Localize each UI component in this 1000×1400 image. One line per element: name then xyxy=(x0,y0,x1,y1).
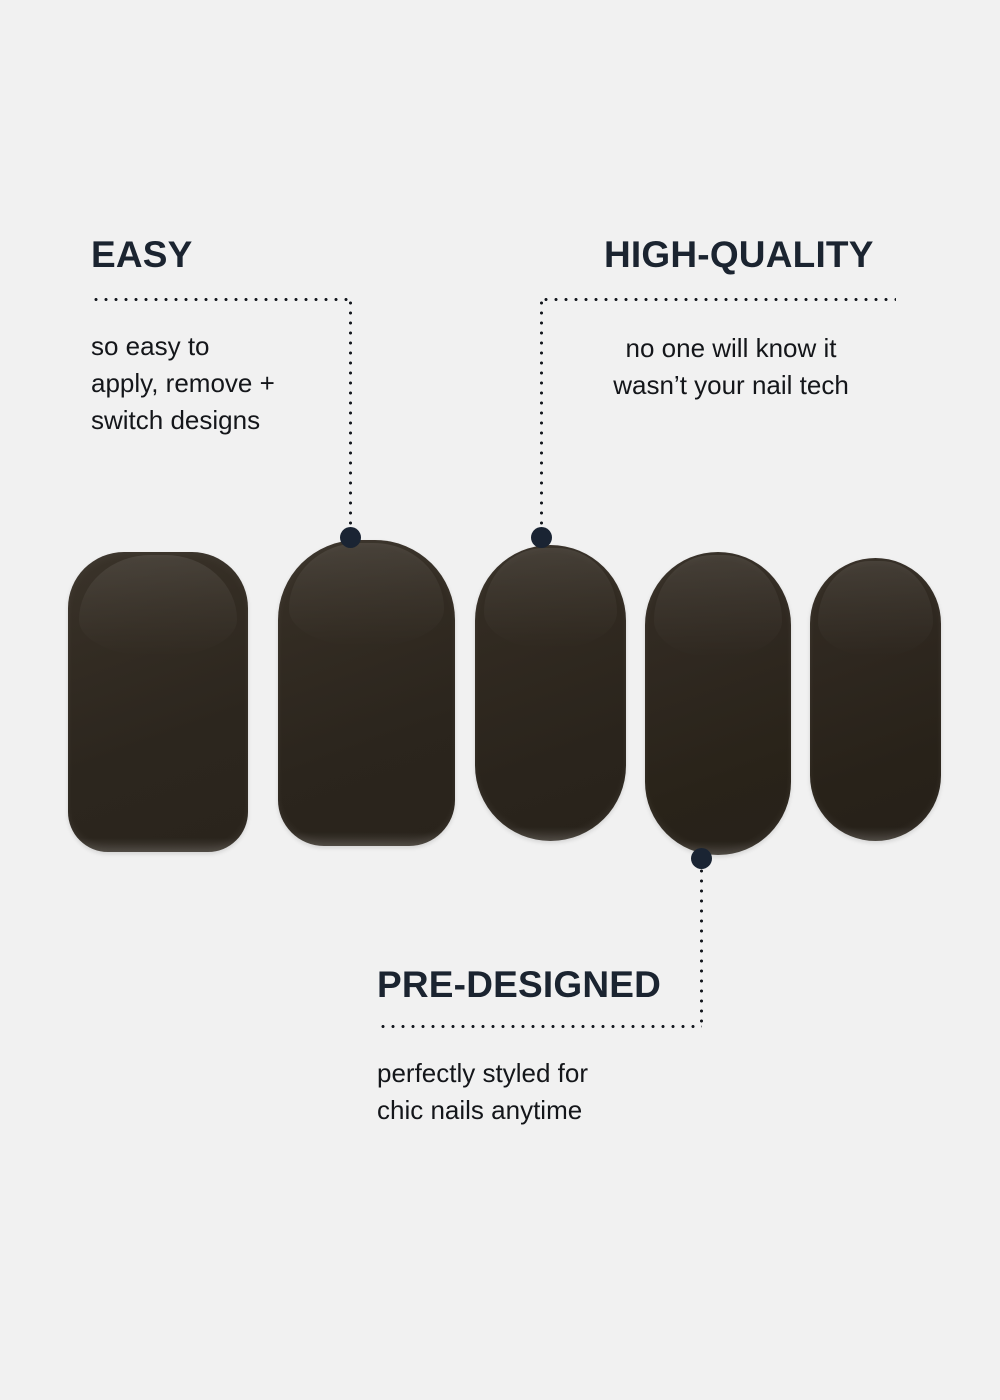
callout-high-quality-endpoint-dot xyxy=(531,527,552,548)
callout-pre-designed-body: perfectly styled for chic nails anytime xyxy=(377,1055,707,1129)
callout-pre-designed-dotted-line-vertical xyxy=(700,866,703,1028)
callout-pre-designed-dotted-line-horizontal xyxy=(378,1025,702,1028)
nail-swatch-5 xyxy=(810,558,941,841)
callout-easy-dotted-line-horizontal xyxy=(91,298,352,301)
callout-easy-endpoint-dot xyxy=(340,527,361,548)
nail-swatch-2 xyxy=(278,540,455,846)
callout-high-quality-body: no one will know it wasn’t your nail tec… xyxy=(566,330,896,404)
nail-tip-rim-1 xyxy=(68,838,248,852)
callout-pre-designed-title: PRE-DESIGNED xyxy=(377,964,661,1006)
callout-high-quality-dotted-line-horizontal xyxy=(541,298,896,301)
callout-easy-body: so easy to apply, remove + switch design… xyxy=(91,328,341,439)
nail-swatch-3 xyxy=(475,545,626,841)
nail-tip-rim-2 xyxy=(278,832,455,846)
nail-swatch-4 xyxy=(645,552,791,855)
nail-tip-rim-5 xyxy=(810,827,941,841)
callout-easy-title: EASY xyxy=(91,234,193,276)
nail-tip-rim-3 xyxy=(475,827,626,841)
nail-swatch-1 xyxy=(68,552,248,852)
product-feature-graphic: EASY so easy to apply, remove + switch d… xyxy=(0,0,1000,1400)
callout-easy-dotted-line-vertical xyxy=(349,298,352,538)
callout-high-quality-title: HIGH-QUALITY xyxy=(604,234,874,276)
nail-tip-rim-4 xyxy=(645,841,791,855)
callout-high-quality-dotted-line-vertical xyxy=(540,298,543,538)
